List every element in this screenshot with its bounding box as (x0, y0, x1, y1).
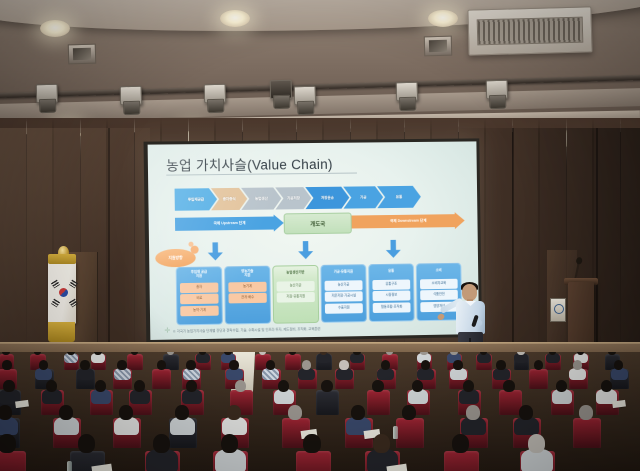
audience-area (0, 352, 640, 471)
auditorium-seat (444, 451, 479, 471)
ceiling-recess (68, 44, 97, 65)
stage-spotlight (292, 86, 317, 115)
audience-member-head (0, 405, 12, 420)
auditorium-seat (127, 354, 142, 371)
auditorium-seat (316, 390, 339, 415)
audience-member-head (463, 380, 474, 392)
audience-member-head (519, 405, 533, 420)
stage-spotlight (34, 84, 59, 113)
ceiling-air-vent-icon (467, 6, 592, 55)
value-chain-chevron-row: 투입재공급 종자증식 농업생산 가공저장 저장운송 가공 유통 (175, 185, 465, 211)
audience-member-head (412, 380, 423, 392)
audience-member-head (381, 360, 391, 370)
support-columns: 투입재 공급지원종자비료농약·기계영농기술지원농기계관개·배수농업생산기반농산가… (176, 263, 468, 324)
stage-band-row: 국제 Upstream 단계 개도국 국제 Downstream 단계 (175, 211, 465, 234)
chevron-step: 유통 (377, 186, 421, 208)
slide-footnote: ※ 각국가 농업가치사슬 단계별 진단과 전략수립, 기술, 수확시설 및 인프… (172, 323, 469, 333)
trigram-icon (69, 299, 78, 308)
arrow-down-icon (208, 242, 223, 260)
support-column-cell: 시장정보 (373, 290, 411, 301)
audience-member-head (450, 352, 458, 355)
audience-member-head (117, 360, 127, 370)
audience-member-head (466, 405, 480, 420)
auditorium-seat (285, 354, 300, 371)
podium (568, 282, 594, 344)
audience-member-head (517, 352, 525, 355)
audience-member-head (94, 352, 102, 355)
audience-member-head (503, 380, 514, 392)
audience-member-head (39, 360, 49, 370)
arrow-down-icon (386, 240, 401, 258)
audience-member-head (372, 380, 383, 392)
audience-member-head (0, 434, 16, 453)
support-column: 가공·유통지원농산가공저온저장·가공시설수출지원 (320, 264, 367, 323)
support-column-cell: 관개·배수 (228, 293, 266, 304)
audience-member-head (573, 360, 583, 370)
audience-member-head (224, 352, 232, 355)
support-column-cell: 협동조합·조직화 (373, 302, 411, 313)
audience-member-head (402, 405, 416, 420)
support-column: 영농기술지원농기계관개·배수 (224, 266, 271, 325)
stage-spotlight (484, 80, 509, 109)
water-bottle (393, 426, 398, 439)
wall-emblem-icon (550, 298, 566, 322)
support-column-header: 투입재 공급지원 (177, 267, 222, 281)
audience-member-head (614, 360, 624, 370)
support-column-cell: 농산가공 (325, 280, 363, 291)
auditorium-seat (573, 418, 601, 448)
wall-panel-seam (596, 128, 598, 358)
flag-top-fringe (48, 254, 76, 264)
audience-member-head (2, 352, 10, 355)
audience-member-head (608, 352, 616, 355)
support-column-cell: 농산가공 (277, 280, 315, 291)
audience-member-head (321, 380, 332, 392)
support-column-cell: 저장·유통지원 (277, 292, 315, 303)
audience-member-head (235, 380, 246, 392)
taeguk-icon (59, 288, 68, 297)
audience-member-head (2, 360, 12, 370)
screen-surface: 농업 가치사슬(Value Chain) 투입재공급 종자증식 농업생산 가공저… (148, 141, 479, 340)
flag-bottom-fringe (48, 322, 75, 342)
auditorium-seat (152, 369, 171, 389)
auditorium-seat (296, 451, 331, 471)
chevron-step: 저장운송 (305, 187, 349, 210)
audience-member-head (3, 380, 14, 392)
audience-member-head (373, 434, 391, 453)
audience-member-head (452, 434, 470, 453)
support-column-header: 소비 (417, 264, 461, 278)
projection-screen: 농업 가치사슬(Value Chain) 투입재공급 종자증식 농업생산 가공저… (144, 138, 483, 343)
support-column-header: 가공·유통지원 (321, 265, 365, 279)
stage-spotlight (394, 82, 419, 111)
audience-member-head (95, 380, 106, 392)
center-band: 개도국 (284, 213, 352, 235)
audience-member-head (78, 434, 96, 453)
audience-member-head (288, 405, 302, 420)
ceiling-downlight (428, 10, 458, 27)
audience-member-head (227, 405, 241, 420)
audience-member-head (556, 380, 567, 392)
audience-member-head (80, 360, 90, 370)
support-column-cell: 수출지원 (325, 303, 363, 314)
stage-spotlight (202, 84, 227, 113)
audience-member-head (134, 380, 145, 392)
support-column: 유통유통구조시장정보협동조합·조직화 (368, 264, 414, 323)
support-column-cell: 비료 (180, 294, 218, 305)
water-bottle (67, 461, 72, 471)
stage-spotlight (118, 86, 143, 115)
support-column-cell: 농기계 (228, 281, 266, 292)
upstream-band: 국제 Upstream 단계 (175, 214, 284, 232)
audience-member-head (339, 360, 349, 370)
auditorium-seat (499, 390, 522, 415)
footnote-bullet-icon: ✛ (164, 328, 170, 335)
wall-panel-seam (512, 128, 514, 358)
audience-member-head (229, 360, 239, 370)
downstream-band: 국제 Downstream 단계 (352, 212, 465, 230)
audience-member-head (221, 434, 239, 453)
audience-member-head (46, 380, 57, 392)
support-column-cell: 저온저장·가공시설 (325, 291, 363, 302)
audience-member-head (421, 360, 431, 370)
chevron-step: 가공 (343, 186, 383, 208)
slide-content: 농업 가치사슬(Value Chain) 투입재공급 종자증식 농업생산 가공저… (148, 141, 479, 340)
audience-member-head (534, 360, 544, 370)
audience-member-head (601, 380, 612, 392)
audience-member-head (278, 380, 289, 392)
support-column-header: 영농기술지원 (225, 267, 269, 281)
audience-member-head (175, 405, 189, 420)
audience-member-head (353, 352, 361, 355)
support-column-header: 유통 (369, 265, 413, 279)
support-column: 농업생산기반농산가공저장·유통지원 (272, 265, 319, 324)
support-column: 투입재 공급지원종자비료농약·기계 (176, 266, 223, 325)
audience-member-head (266, 360, 276, 370)
support-column-cell: 종자 (180, 282, 218, 293)
audience-member-head (186, 360, 196, 370)
ceiling-downlight (40, 20, 70, 37)
support-column-cell: 유통구조 (372, 279, 410, 290)
audience-member-head (302, 360, 312, 370)
audience-member-head (157, 360, 167, 370)
audience-member-head (153, 434, 171, 453)
auditorium-seat (0, 451, 26, 471)
arrow-down-icon (298, 241, 313, 259)
ceiling-downlight (220, 10, 250, 27)
auditorium-seat (367, 390, 390, 415)
support-direction-callout: 지원방향 (155, 249, 196, 268)
audience-member-head (119, 405, 133, 420)
support-column-cell: 농약·기계 (180, 305, 218, 316)
lecture-hall-photo: 농업 가치사슬(Value Chain) 투입재공급 종자증식 농업생산 가공저… (0, 0, 640, 471)
chevron-step: 농업생산 (241, 187, 281, 210)
ceiling-recess (424, 36, 453, 57)
support-column-header: 농업생산기반 (273, 266, 317, 280)
audience-member-head (59, 405, 73, 420)
auditorium-seat (529, 369, 548, 389)
wall-panel-seam (108, 128, 110, 358)
chevron-step: 투입재공급 (175, 188, 218, 211)
audience-member-head (579, 405, 593, 420)
auditorium-seat (396, 418, 424, 448)
audience-member-head (67, 352, 75, 355)
audience-member-head (186, 380, 197, 392)
stage-spotlight (268, 80, 293, 109)
audience-member-head (351, 405, 365, 420)
audience-member-head (303, 434, 321, 453)
audience-member-head (420, 352, 428, 355)
slide-title: 농업 가치사슬(Value Chain) (166, 153, 333, 175)
audience-member-head (496, 360, 506, 370)
audience-member-head (528, 434, 546, 453)
audience-member-head (453, 360, 463, 370)
